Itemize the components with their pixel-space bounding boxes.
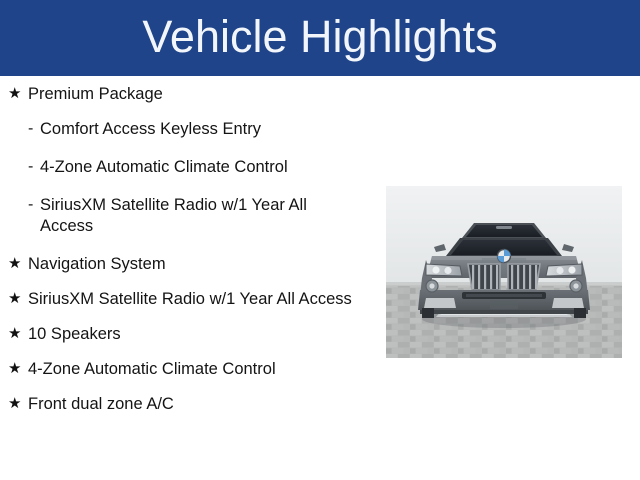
list-item: ★ Front dual zone A/C [0,394,372,415]
list-item-label: 10 Speakers [28,324,372,345]
list-item-label: 4-Zone Automatic Climate Control [40,157,372,178]
dash-icon: - [28,157,40,177]
list-item: ★ Premium Package [0,84,372,105]
highlights-list: ★ Premium Package - Comfort Access Keyle… [0,84,372,429]
list-item: ★ 4-Zone Automatic Climate Control [0,359,372,380]
header-banner: Vehicle Highlights [0,0,640,76]
list-item-label: Navigation System [28,254,372,275]
list-item-label: 4-Zone Automatic Climate Control [28,359,372,380]
list-item: ★ 10 Speakers [0,324,372,345]
list-item-label: Front dual zone A/C [28,394,372,415]
list-item-label: SiriusXM Satellite Radio w/1 Year All Ac… [28,289,372,310]
content-area: ★ Premium Package - Comfort Access Keyle… [0,76,640,480]
list-item-label: Comfort Access Keyless Entry [40,119,372,140]
list-item-sub: - Comfort Access Keyless Entry [0,119,372,140]
list-item-sub: - SiriusXM Satellite Radio w/1 Year All … [0,195,372,237]
star-bullet-icon: ★ [8,394,28,414]
star-bullet-icon: ★ [8,359,28,379]
list-item: ★ SiriusXM Satellite Radio w/1 Year All … [0,289,372,310]
list-item-sub: - 4-Zone Automatic Climate Control [0,157,372,178]
list-item-label: SiriusXM Satellite Radio w/1 Year All Ac… [40,195,372,237]
star-bullet-icon: ★ [8,289,28,309]
dash-icon: - [28,119,40,139]
vehicle-photo [386,186,622,358]
star-bullet-icon: ★ [8,84,28,104]
list-item-label: Premium Package [28,84,372,105]
dash-icon: - [28,195,40,215]
list-item: ★ Navigation System [0,254,372,275]
star-bullet-icon: ★ [8,254,28,274]
star-bullet-icon: ★ [8,324,28,344]
vehicle-photo-graphic [386,186,622,358]
page-title: Vehicle Highlights [142,14,497,63]
